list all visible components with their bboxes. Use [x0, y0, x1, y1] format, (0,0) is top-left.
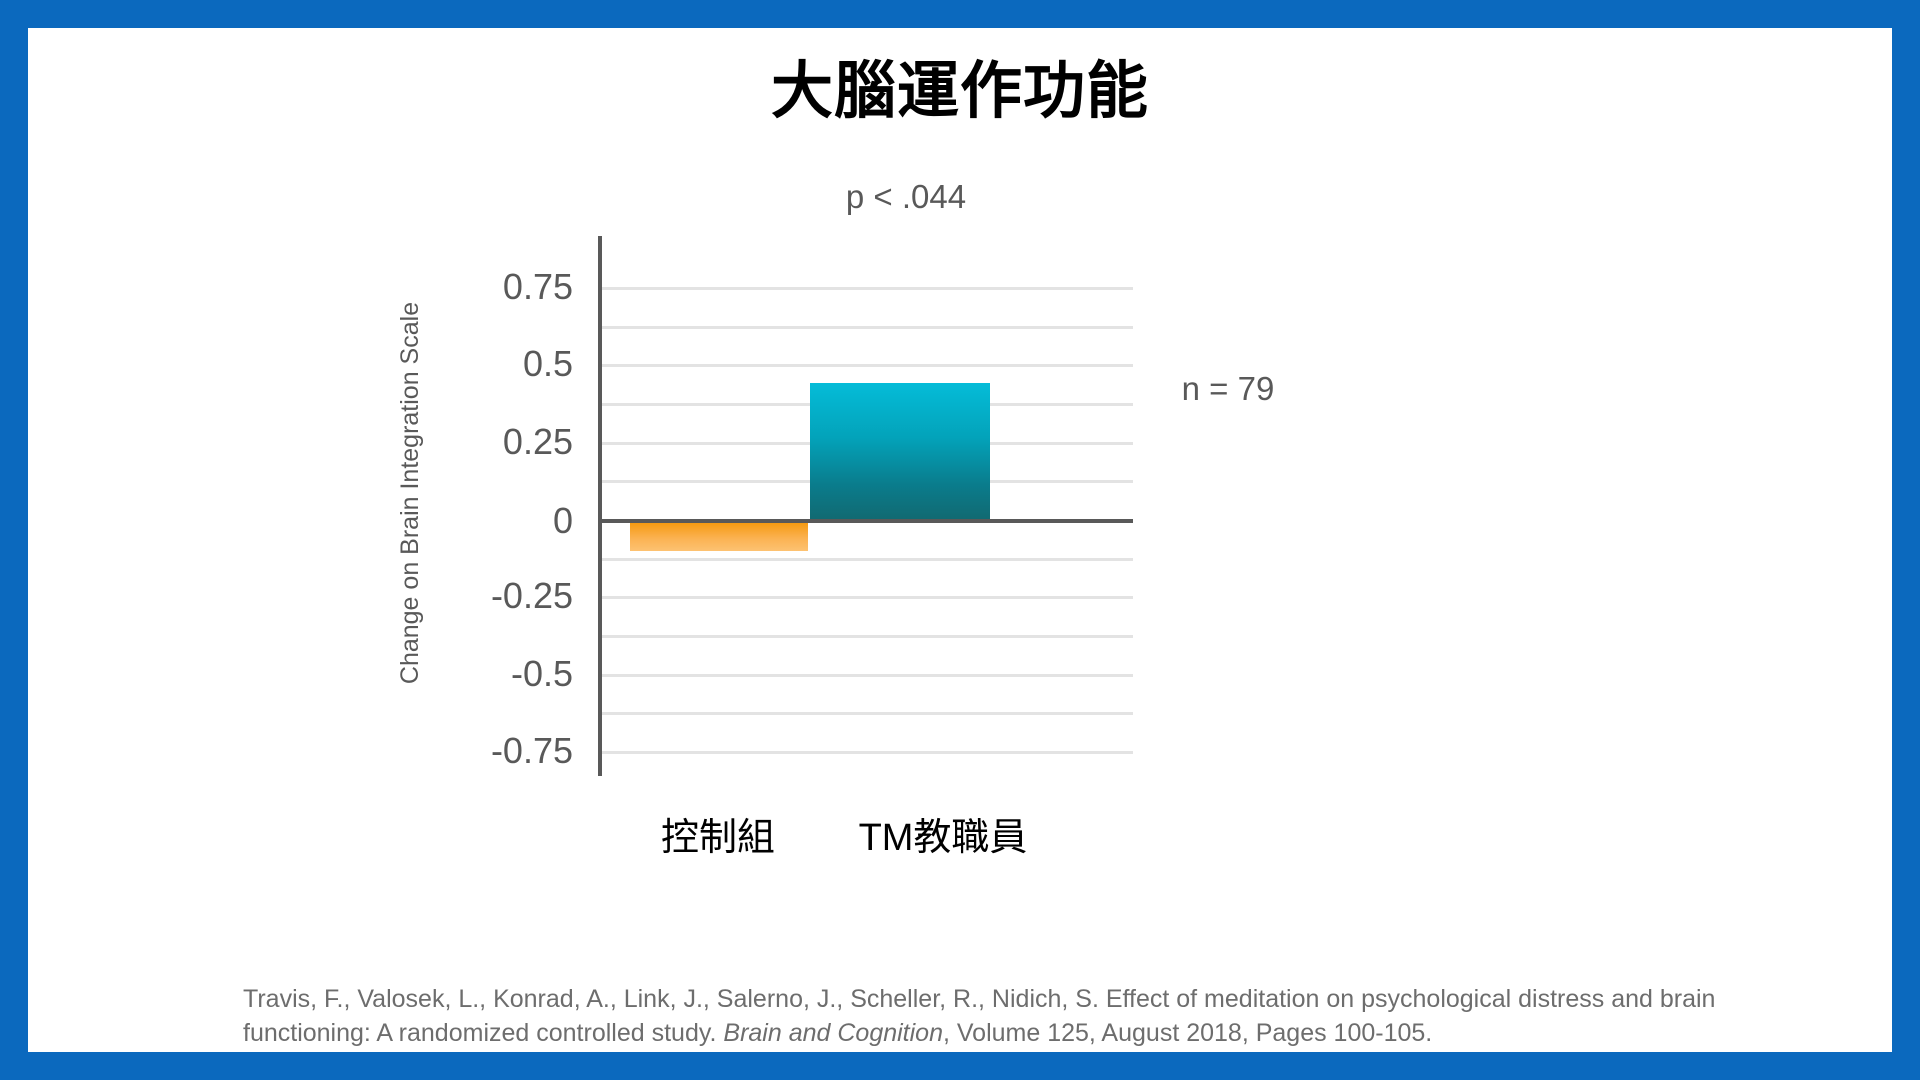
y-tick-label: 0.25 — [413, 421, 573, 463]
gridline — [602, 674, 1133, 677]
gridline — [602, 751, 1133, 754]
gridline — [602, 364, 1133, 367]
y-tick-label: 0.75 — [413, 266, 573, 308]
gridline — [602, 712, 1133, 715]
citation-journal-name: Brain and Cognition — [723, 1019, 943, 1047]
y-tick-label: -0.25 — [413, 575, 573, 617]
gridline — [602, 635, 1133, 638]
plot-area: 0.75 0.5 0.25 0 -0.25 -0.5 -0.75 — [598, 236, 1133, 776]
slide-root: 大腦運作功能 p < .044 n = 79 Change on Brain I… — [0, 0, 1920, 1080]
bar-chart: p < .044 n = 79 Change on Brain Integrat… — [448, 178, 1508, 918]
y-tick-label: 0.5 — [413, 343, 573, 385]
slide-content-area: 大腦運作功能 p < .044 n = 79 Change on Brain I… — [28, 28, 1892, 1052]
p-value-annotation: p < .044 — [716, 178, 1096, 216]
bar-tm-staff — [810, 383, 990, 519]
y-tick-label: 0 — [413, 500, 573, 542]
sample-size-annotation: n = 79 — [1108, 370, 1348, 408]
gridline — [602, 287, 1133, 290]
y-axis-line — [598, 236, 602, 776]
page-title: 大腦運作功能 — [28, 58, 1892, 126]
bar-control-group — [630, 523, 808, 551]
gridline — [602, 596, 1133, 599]
gridline — [602, 558, 1133, 561]
gridline — [602, 326, 1133, 329]
y-tick-label: -0.5 — [413, 653, 573, 695]
x-tick-label-control: 控制組 — [608, 806, 828, 861]
citation-part-2: , Volume 125, August 2018, Pages 100-105… — [943, 1019, 1432, 1047]
x-tick-label-tm: TM教職員 — [813, 806, 1073, 861]
y-tick-label: -0.75 — [413, 730, 573, 772]
citation-text: Travis, F., Valosek, L., Konrad, A., Lin… — [243, 983, 1742, 1051]
